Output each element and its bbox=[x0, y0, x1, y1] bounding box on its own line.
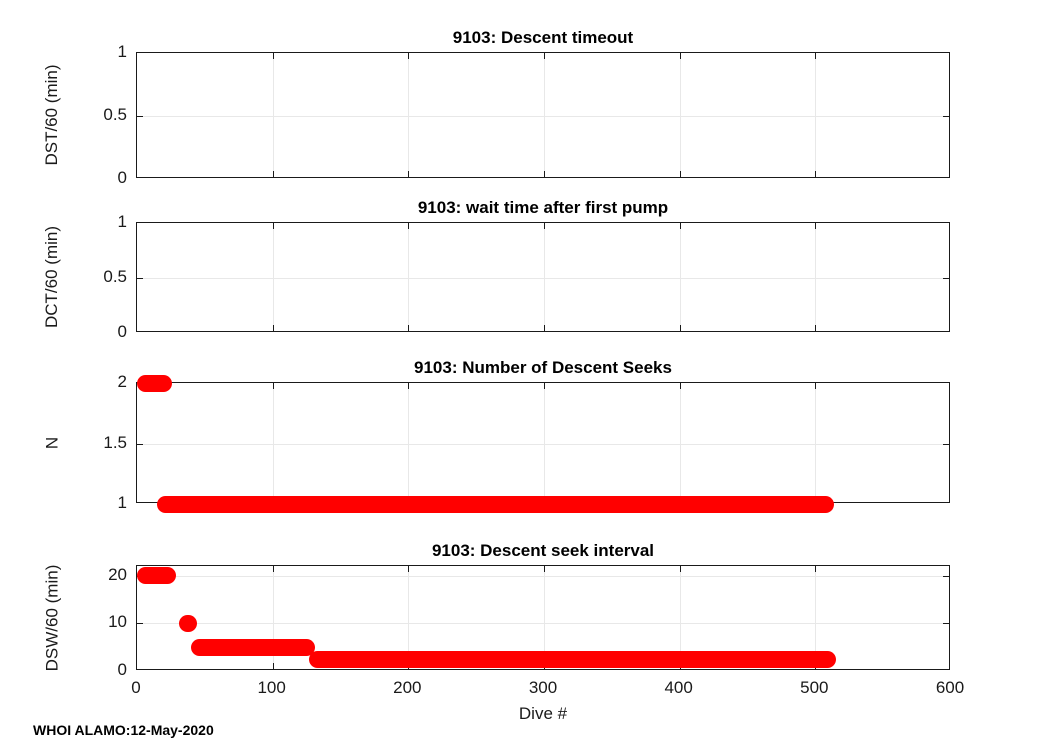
panel-1-xtick-top-300 bbox=[544, 53, 545, 59]
panel-4-xticklabel-600: 600 bbox=[936, 678, 964, 698]
panel-1-xtick-300 bbox=[544, 171, 545, 177]
panel-3-yticklabel-1: 1 bbox=[118, 493, 127, 513]
panel-2-plot-area bbox=[136, 222, 950, 332]
panel-4-gridline-y-20 bbox=[137, 576, 949, 577]
panel-2-yticklabel-0: 0 bbox=[118, 322, 127, 342]
panel-4-yticklabel-10: 10 bbox=[108, 612, 127, 632]
panel-2-title: 9103: wait time after first pump bbox=[136, 198, 950, 218]
panel-2-ytick-0.5 bbox=[137, 278, 143, 279]
panel-3-xtick-top-400 bbox=[680, 383, 681, 389]
panel-1-yticklabel-0.5: 0.5 bbox=[103, 105, 127, 125]
panel-1-gridline-x-200 bbox=[408, 53, 409, 177]
panel-1-xtick-top-500 bbox=[815, 53, 816, 59]
panel-4-data-segment-0 bbox=[137, 567, 176, 584]
panel-4-yticklabel-0: 0 bbox=[118, 660, 127, 680]
panel-4-data-segment-3 bbox=[309, 651, 835, 668]
panel-1-xtick-500 bbox=[815, 171, 816, 177]
panel-1-gridline-x-500 bbox=[815, 53, 816, 177]
figure-canvas: 9103: Descent timeout00.51DST/60 (min)91… bbox=[0, 0, 1050, 750]
panel-4-plot-area bbox=[136, 565, 950, 670]
panel-3-gridline-x-400 bbox=[680, 383, 681, 502]
panel-4-ytick-10 bbox=[137, 623, 143, 624]
panel-2-xtick-100 bbox=[273, 325, 274, 331]
panel-3-ytick-right-1.5 bbox=[943, 444, 949, 445]
panel-3-yticklabel-1.5: 1.5 bbox=[103, 433, 127, 453]
panel-2-gridline-x-400 bbox=[680, 223, 681, 331]
panel-2-xtick-200 bbox=[408, 325, 409, 331]
panel-1-xtick-400 bbox=[680, 171, 681, 177]
panel-3-plot-area bbox=[136, 382, 950, 503]
panel-4-xtick-top-500 bbox=[815, 566, 816, 572]
panel-2-gridline-x-500 bbox=[815, 223, 816, 331]
panel-1-gridline-x-100 bbox=[273, 53, 274, 177]
panel-2-xtick-400 bbox=[680, 325, 681, 331]
panel-2-gridline-x-200 bbox=[408, 223, 409, 331]
panel-4-xticklabel-400: 400 bbox=[664, 678, 692, 698]
panel-4-ytick-right-10 bbox=[943, 623, 949, 624]
panel-2-xtick-top-400 bbox=[680, 223, 681, 229]
panel-1-ytick-right-0.5 bbox=[943, 116, 949, 117]
panel-1-xtick-top-100 bbox=[273, 53, 274, 59]
panel-3-ytick-1.5 bbox=[137, 444, 143, 445]
panel-1-plot-area bbox=[136, 52, 950, 178]
panel-1-ytick-0.5 bbox=[137, 116, 143, 117]
panel-4-title: 9103: Descent seek interval bbox=[136, 541, 950, 561]
panel-1-gridline-y-0.5 bbox=[137, 116, 949, 117]
panel-1-xtick-top-200 bbox=[408, 53, 409, 59]
panel-4-xtick-top-100 bbox=[273, 566, 274, 572]
panel-4-ytick-right-20 bbox=[943, 576, 949, 577]
panel-3-y-axis-label: N bbox=[42, 347, 62, 538]
panel-4-data-segment-1 bbox=[179, 615, 197, 632]
panel-1-title: 9103: Descent timeout bbox=[136, 28, 950, 48]
panel-3-yticklabel-2: 2 bbox=[118, 372, 127, 392]
panel-2-xtick-500 bbox=[815, 325, 816, 331]
panel-2-y-axis-label: DCT/60 (min) bbox=[42, 187, 62, 367]
panel-3-title: 9103: Number of Descent Seeks bbox=[136, 358, 950, 378]
panel-2-xtick-300 bbox=[544, 325, 545, 331]
panel-3-xtick-top-300 bbox=[544, 383, 545, 389]
panel-4-y-axis-label: DSW/60 (min) bbox=[42, 530, 62, 705]
panel-4-xticklabel-200: 200 bbox=[393, 678, 421, 698]
panel-2-gridline-x-100 bbox=[273, 223, 274, 331]
x-axis-label: Dive # bbox=[136, 704, 950, 724]
panel-2-xtick-top-300 bbox=[544, 223, 545, 229]
figure-footer-note: WHOI ALAMO:12-May-2020 bbox=[33, 722, 214, 738]
panel-4-xtick-top-200 bbox=[408, 566, 409, 572]
panel-1-gridline-x-400 bbox=[680, 53, 681, 177]
panel-4-data-segment-2 bbox=[191, 639, 314, 656]
panel-2-yticklabel-0.5: 0.5 bbox=[103, 267, 127, 287]
panel-4-gridline-y-10 bbox=[137, 623, 949, 624]
panel-3-gridline-x-300 bbox=[544, 383, 545, 502]
panel-2-ytick-right-0.5 bbox=[943, 278, 949, 279]
panel-3-gridline-x-500 bbox=[815, 383, 816, 502]
panel-1-gridline-x-300 bbox=[544, 53, 545, 177]
panel-3-xtick-top-100 bbox=[273, 383, 274, 389]
panel-1-y-axis-label: DST/60 (min) bbox=[42, 17, 62, 213]
panel-4-xticklabel-300: 300 bbox=[529, 678, 557, 698]
panel-4-yticklabel-20: 20 bbox=[108, 565, 127, 585]
panel-1-yticklabel-0: 0 bbox=[118, 168, 127, 188]
panel-3-data-segment-1 bbox=[157, 496, 834, 513]
panel-2-gridline-y-0.5 bbox=[137, 278, 949, 279]
panel-4-xtick-top-300 bbox=[544, 566, 545, 572]
panel-3-gridline-y-1.5 bbox=[137, 444, 949, 445]
panel-2-gridline-x-300 bbox=[544, 223, 545, 331]
panel-4-xtick-100 bbox=[273, 663, 274, 669]
panel-1-xtick-top-400 bbox=[680, 53, 681, 59]
panel-4-xticklabel-0: 0 bbox=[131, 678, 140, 698]
panel-3-xtick-top-500 bbox=[815, 383, 816, 389]
panel-4-xtick-top-400 bbox=[680, 566, 681, 572]
panel-1-xtick-100 bbox=[273, 171, 274, 177]
panel-2-xtick-top-100 bbox=[273, 223, 274, 229]
panel-2-xtick-top-200 bbox=[408, 223, 409, 229]
panel-1-yticklabel-1: 1 bbox=[118, 42, 127, 62]
panel-2-yticklabel-1: 1 bbox=[118, 212, 127, 232]
panel-3-xtick-top-200 bbox=[408, 383, 409, 389]
panel-4-xticklabel-500: 500 bbox=[800, 678, 828, 698]
panel-2-xtick-top-500 bbox=[815, 223, 816, 229]
panel-4-xticklabel-100: 100 bbox=[257, 678, 285, 698]
panel-1-xtick-200 bbox=[408, 171, 409, 177]
panel-3-gridline-x-200 bbox=[408, 383, 409, 502]
panel-3-data-segment-0 bbox=[137, 375, 172, 392]
panel-3-gridline-x-100 bbox=[273, 383, 274, 502]
